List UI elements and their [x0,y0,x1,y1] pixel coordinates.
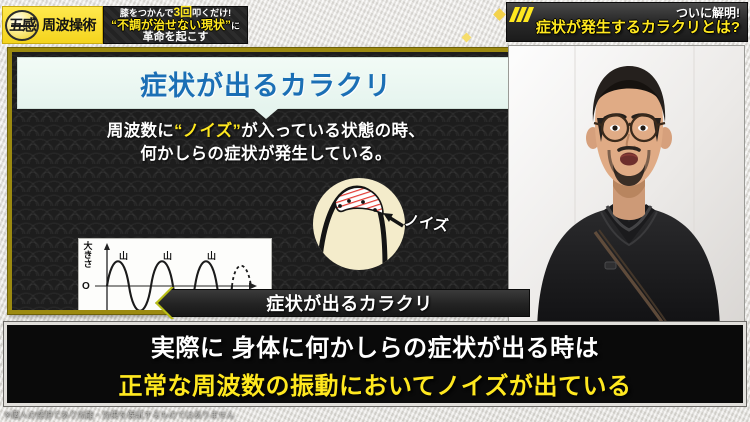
magnified-wave-svg [313,178,405,270]
headline-l2-main: “不調が治せない現状” [111,18,231,32]
topic-banner-line-2: 症状が発生するカラクリとは? [536,20,740,36]
headline-l2-suffix: に [231,21,240,31]
body-l1-b: が入っている状態の時、 [241,122,425,140]
panel-title-plate: 症状が出るカラクリ [17,57,515,109]
presenter-illustration [509,46,745,328]
body-l1-highlight: “ノイズ” [174,122,241,140]
subtitle-box: 実際に 身体に何かしらの症状が出る時は 正常な周波数の振動においてノイズが出てい… [4,322,746,406]
headline-l1-number: 3回 [173,5,192,19]
logo-badge-text: 五感 [9,18,35,33]
explanation-panel: 症状が出るカラクリ 周波数に“ノイズ”が入っている状態の時、 何かしらの症状が発… [8,48,524,314]
graph-peak-label: 山 [119,250,128,261]
program-logo-block: 五感 周波操術 膝をつかんで3回叩くだけ! “不調が治せない現状”に 革命を起こ… [2,6,248,44]
panel-title: 症状が出るカラクリ [140,64,392,103]
headline-l1-mid: をつかんで [129,8,174,18]
logo-wordmark: 周波操術 [42,15,96,35]
screen-frame: 五感 周波操術 膝をつかんで3回叩くだけ! “不調が治せない現状”に 革命を起こ… [0,0,750,422]
panel-body-text: 周波数に“ノイズ”が入っている状態の時、 何かしらの症状が発生している。 [12,112,520,171]
headline-line-2: “不調が治せない現状”に [111,19,240,31]
arrow-pointer-icon [383,213,403,226]
graph-y-axis-label: 大きさ [81,242,95,270]
title-plate-notch-icon [253,108,279,119]
presenter-video[interactable] [508,45,745,328]
logo-headline-panel: 膝をつかんで3回叩くだけ! “不調が治せない現状”に 革命を起こす [103,6,248,44]
subtitle-line-1: 実際に 身体に何かしらの症状が出る時は [151,328,599,363]
topic-banner: ついに解明! 症状が発生するカラクリとは? [506,2,748,42]
logo-yellow-plate: 五感 周波操術 [2,6,103,44]
headline-line-3: 革命を起こす [143,32,209,43]
ribbon-caption: 症状が出るカラクリ [155,289,530,317]
slash-marks-icon [512,7,531,22]
headline-line-1: 膝をつかんで3回叩くだけ! [120,6,231,18]
headline-l1-prefix: 膝 [120,8,129,18]
gokan-badge-icon: 五感 [5,10,39,41]
panel-body-line-2: 何かしらの症状が発生している。 [22,143,510,166]
disclaimer-text: ※個人の感想であり効能・効果を保証するものではありません [4,409,235,421]
panel-body-line-1: 周波数に“ノイズ”が入っている状態の時、 [22,120,510,143]
headline-l1-suffix: 叩くだけ! [192,8,231,18]
graph-peak-label: 山 [163,250,172,261]
body-l1-a: 周波数に [107,122,174,140]
section-ribbon: 症状が出るカラクリ [155,289,530,317]
noise-magnifier [313,178,405,270]
graph-peak-label: 山 [207,250,216,261]
panel-body: 周波数に“ノイズ”が入っている状態の時、 何かしらの症状が発生している。 [12,112,520,310]
subtitle-line-2: 正常な周波数の振動においてノイズが出ている [118,366,631,401]
graph-origin-label: O [82,281,90,292]
